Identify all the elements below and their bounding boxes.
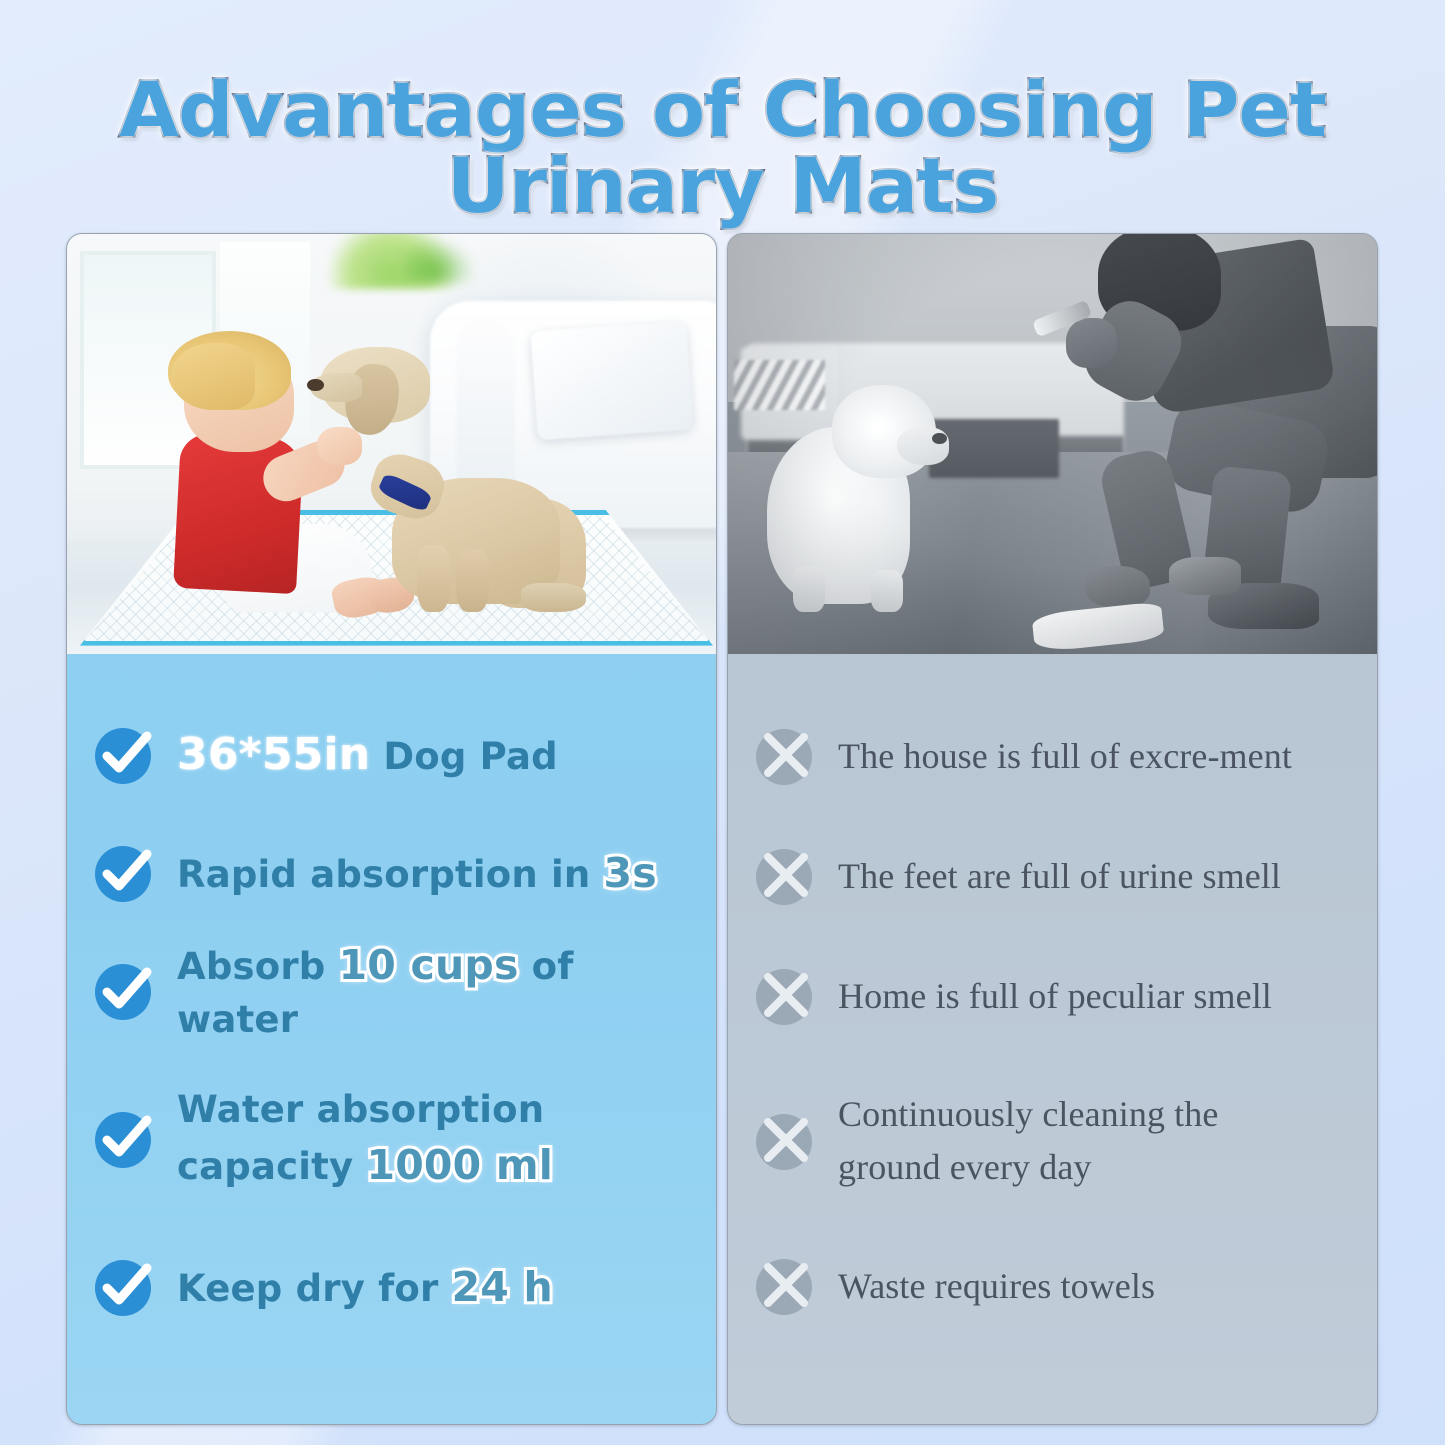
x-circle-icon	[754, 725, 816, 787]
check-circle-icon	[93, 724, 155, 786]
advantage-label-4a: Water absorption	[177, 1088, 544, 1131]
advantage-label-2: Rapid absorption in	[177, 853, 604, 896]
highlight-absorption-time: 3s	[604, 849, 657, 897]
x-circle-icon	[754, 965, 816, 1027]
disadvantages-panel: The house is full of excre-ment The feet…	[727, 233, 1378, 1425]
advantages-panel: 36*55in Dog Pad Rapid absorption in 3s	[66, 233, 717, 1425]
photo-vignette	[728, 234, 1377, 654]
advantage-label-5: Keep dry for	[177, 1267, 452, 1310]
check-circle-icon	[93, 960, 155, 1022]
advantage-label-3a: Absorb	[177, 945, 339, 988]
check-circle-icon	[93, 842, 155, 904]
advantage-label-4b: capacity	[177, 1145, 366, 1188]
plant-foliage-secondary	[404, 238, 475, 284]
list-item: Absorb 10 cups of water	[93, 932, 690, 1050]
highlight-size: 36*55in	[177, 729, 370, 780]
puppy-rear-paw	[521, 583, 586, 612]
highlight-dry-time: 24 h	[452, 1263, 553, 1311]
sofa-arm	[456, 318, 514, 503]
advantages-list: 36*55in Dog Pad Rapid absorption in 3s	[67, 654, 716, 1424]
disadvantage-text-3: Home is full of peculiar smell	[838, 970, 1272, 1023]
x-circle-icon	[754, 1255, 816, 1317]
disadvantage-text-4: Continuously cleaning the ground every d…	[838, 1088, 1218, 1193]
list-item: Home is full of peculiar smell	[754, 936, 1351, 1056]
x-circle-icon	[754, 1110, 816, 1172]
advantage-text-2: Rapid absorption in 3s	[177, 844, 657, 902]
highlight-cups: 10 cups	[339, 941, 519, 989]
list-item: Rapid absorption in 3s	[93, 814, 690, 932]
advantage-label-1: Dog Pad	[370, 735, 558, 778]
x-circle-icon	[754, 845, 816, 907]
boy-hair-highlight	[171, 343, 255, 410]
disadvantages-list: The house is full of excre-ment The feet…	[728, 654, 1377, 1424]
check-circle-icon	[93, 1108, 155, 1170]
list-item: Keep dry for 24 h	[93, 1228, 690, 1346]
list-item: Water absorptioncapacity 1000 ml	[93, 1050, 690, 1228]
advantage-text-4: Water absorptioncapacity 1000 ml	[177, 1084, 553, 1195]
puppy-front-leg-2	[456, 549, 488, 612]
photo-woman-cleaning-floor	[728, 234, 1377, 654]
advantage-text-1: 36*55in Dog Pad	[177, 724, 558, 786]
disadvantage-text-5: Waste requires towels	[838, 1260, 1155, 1313]
page-title-container: Advantages of Choosing Pet Urinary Mats	[0, 72, 1445, 224]
list-item: The feet are full of urine smell	[754, 816, 1351, 936]
check-circle-icon	[93, 1256, 155, 1318]
comparison-panels: 36*55in Dog Pad Rapid absorption in 3s	[66, 233, 1378, 1425]
list-item: Waste requires towels	[754, 1226, 1351, 1346]
boy-hand	[317, 427, 362, 465]
page-title: Advantages of Choosing Pet Urinary Mats	[0, 72, 1445, 224]
disadvantage-text-1: The house is full of excre-ment	[838, 730, 1292, 783]
puppy-front-leg	[417, 545, 449, 612]
advantage-text-5: Keep dry for 24 h	[177, 1258, 553, 1316]
infographic-canvas: Advantages of Choosing Pet Urinary Mats	[0, 0, 1445, 1445]
sofa-cushion	[531, 321, 694, 441]
disadvantage-text-2: The feet are full of urine smell	[838, 850, 1281, 903]
list-item: The house is full of excre-ment	[754, 696, 1351, 816]
advantage-text-3: Absorb 10 cups of water	[177, 936, 690, 1047]
photo-boy-with-puppy-on-pad	[67, 234, 716, 654]
list-item: Continuously cleaning the ground every d…	[754, 1056, 1351, 1226]
highlight-capacity: 1000 ml	[366, 1141, 553, 1189]
list-item: 36*55in Dog Pad	[93, 696, 690, 814]
